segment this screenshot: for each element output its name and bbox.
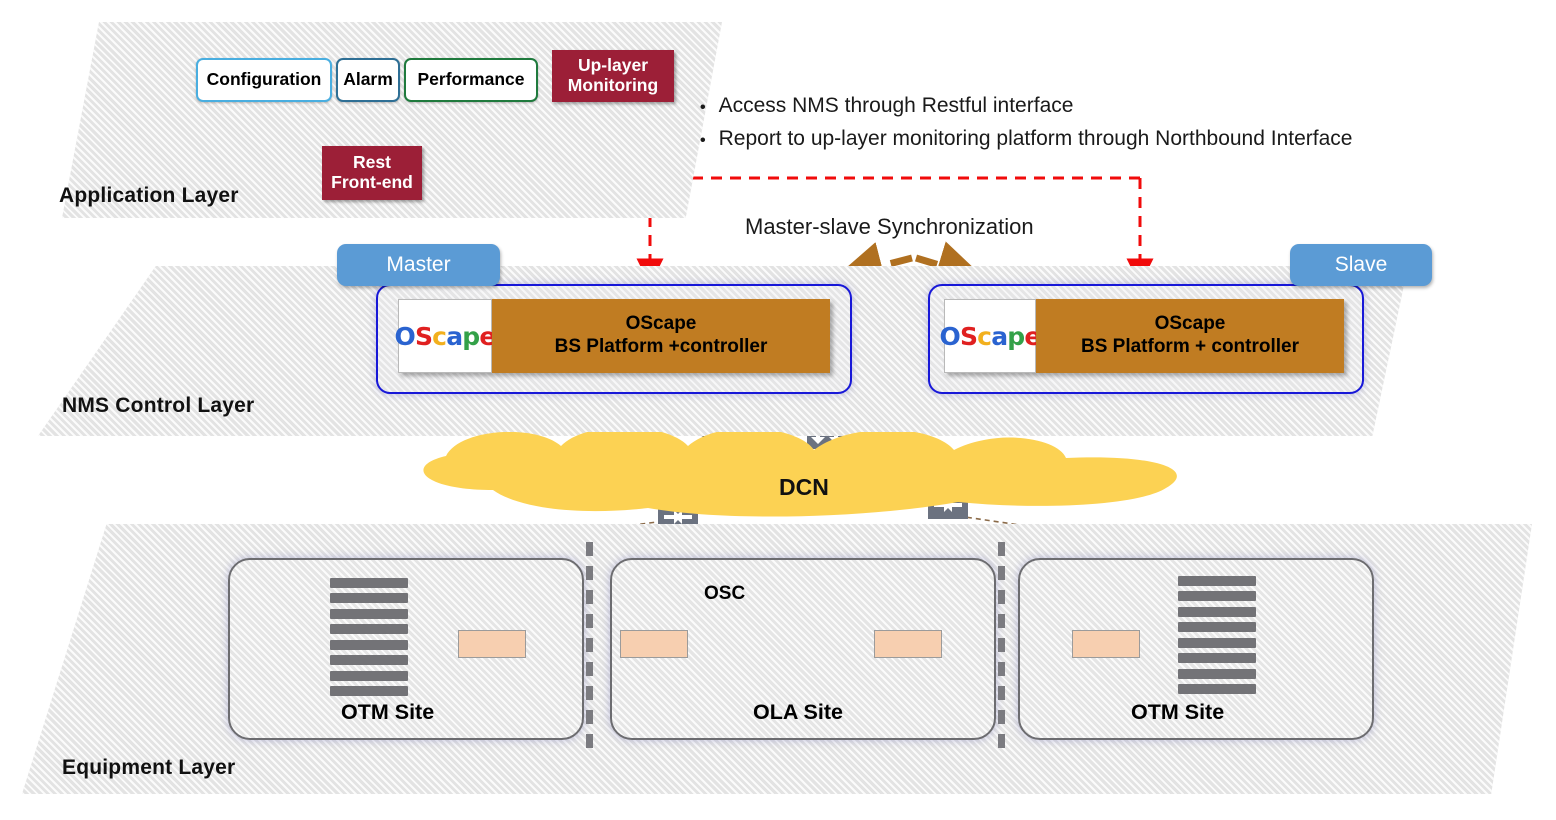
nms-control-layer-label: NMS Control Layer <box>62 394 254 418</box>
site-divider-right <box>998 542 1005 750</box>
module-performance[interactable]: Performance <box>404 58 538 102</box>
otm-right-rack <box>1178 576 1256 694</box>
master-slave-sync-label: Master-slave Synchronization <box>745 214 1034 240</box>
master-role-tab[interactable]: Master <box>337 244 500 286</box>
master-node-title: OScape <box>626 313 697 336</box>
annotation-bullet-list: • Access NMS through Restful interface •… <box>700 94 1352 160</box>
module-performance-label: Performance <box>418 70 525 90</box>
diagram-canvas: Application Layer NMS Control Layer Equi… <box>0 0 1556 820</box>
rest-front-end-line1: Rest <box>353 153 391 173</box>
oscape-logo-text: OScape <box>394 322 495 351</box>
amplifier-1[interactable] <box>458 630 526 658</box>
oscape-logo-letter: a <box>991 322 1007 351</box>
rest-front-end-line2: Front-end <box>331 173 413 193</box>
module-alarm[interactable]: Alarm <box>336 58 400 102</box>
master-node-text: OScape BS Platform +controller <box>492 299 830 373</box>
oscape-logo-letter: S <box>415 322 432 351</box>
dcn-label: DCN <box>779 474 829 501</box>
site-label-otm-right: OTM Site <box>1131 700 1224 725</box>
site-label-otm-left: OTM Site <box>341 700 434 725</box>
oscape-logo-icon: OScape <box>944 299 1036 373</box>
amplifier-2[interactable] <box>620 630 688 658</box>
amplifier-4[interactable] <box>1072 630 1140 658</box>
module-configuration[interactable]: Configuration <box>196 58 332 102</box>
oscape-logo-letter: c <box>432 322 446 351</box>
master-role-label: Master <box>386 253 450 277</box>
slave-node-subtitle: BS Platform + controller <box>1081 336 1299 359</box>
bullet-item: • Report to up-layer monitoring platform… <box>700 127 1352 151</box>
master-node-subtitle: BS Platform +controller <box>555 336 768 359</box>
osc-label: OSC <box>704 583 745 605</box>
slave-role-label: Slave <box>1335 253 1388 277</box>
amplifier-3[interactable] <box>874 630 942 658</box>
slave-node-text: OScape BS Platform + controller <box>1036 299 1344 373</box>
site-divider-left <box>586 542 593 750</box>
oscape-logo-letter: p <box>1007 322 1024 351</box>
slave-role-tab[interactable]: Slave <box>1290 244 1432 286</box>
oscape-logo-letter: c <box>977 322 991 351</box>
slave-node-card[interactable]: OScape OScape BS Platform + controller <box>944 299 1344 373</box>
master-node-card[interactable]: OScape OScape BS Platform +controller <box>398 299 830 373</box>
up-layer-monitoring-box[interactable]: Up-layer Monitoring <box>552 50 674 102</box>
oscape-logo-text: OScape <box>939 322 1040 351</box>
bullet-marker-icon: • <box>700 133 706 149</box>
site-label-ola: OLA Site <box>753 700 843 725</box>
rest-front-end-box[interactable]: Rest Front-end <box>322 146 422 200</box>
slave-node-title: OScape <box>1155 313 1226 336</box>
oscape-logo-letter: O <box>939 322 959 351</box>
up-layer-monitoring-line1: Up-layer <box>578 56 648 76</box>
up-layer-monitoring-line2: Monitoring <box>568 76 658 96</box>
bullet-text-1: Access NMS through Restful interface <box>719 94 1074 118</box>
module-alarm-label: Alarm <box>343 70 393 90</box>
equipment-layer-label: Equipment Layer <box>62 756 235 780</box>
oscape-logo-letter: S <box>960 322 977 351</box>
application-layer-label: Application Layer <box>59 184 239 208</box>
oscape-logo-letter: p <box>462 322 479 351</box>
bullet-marker-icon: • <box>700 100 706 116</box>
oscape-logo-icon: OScape <box>398 299 492 373</box>
module-configuration-label: Configuration <box>207 70 322 90</box>
otm-left-rack <box>330 578 408 696</box>
bullet-text-2: Report to up-layer monitoring platform t… <box>719 127 1353 151</box>
bullet-item: • Access NMS through Restful interface <box>700 94 1352 118</box>
oscape-logo-letter: O <box>394 322 414 351</box>
oscape-logo-letter: a <box>446 322 462 351</box>
